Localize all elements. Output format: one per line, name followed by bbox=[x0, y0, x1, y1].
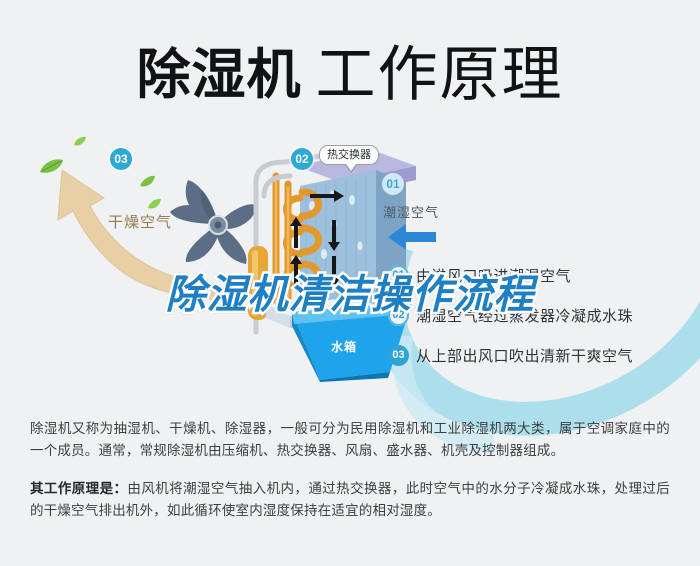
step-text-03: 从上部出风口吹出清新干爽空气 bbox=[416, 345, 633, 366]
dry-air-label: 干燥空气 bbox=[108, 211, 172, 232]
paragraph-1: 除湿机又称为抽湿机、干燥机、除湿器，一般可分为民用除湿机和工业除湿机两大类，属于… bbox=[30, 418, 670, 462]
humid-air-label: 潮湿空气 bbox=[383, 202, 439, 221]
diagram-badge-02: 02 bbox=[291, 148, 313, 170]
page-title-light: 工作原理 bbox=[316, 41, 564, 108]
list-item: 03 从上部出风口吹出清新干爽空气 bbox=[388, 344, 688, 366]
heat-exchanger-callout: 热交换器 bbox=[319, 145, 379, 165]
leaf-icon bbox=[38, 158, 64, 176]
infographic-page: 除湿机工作原理 bbox=[0, 0, 700, 566]
body-copy: 除湿机又称为抽湿机、干燥机、除湿器，一般可分为民用除湿机和工业除湿机两大类，属于… bbox=[30, 418, 670, 538]
dehumidifier-diagram: 03 02 01 热交换器 干燥空气 潮湿空气 水箱 01 由进风口吸进潮湿空气… bbox=[0, 118, 700, 390]
diagram-badge-01: 01 bbox=[382, 173, 404, 195]
water-tank-label: 水箱 bbox=[331, 338, 357, 355]
leaf-icon bbox=[73, 136, 87, 148]
step-badge-03: 03 bbox=[388, 345, 409, 366]
paragraph-2: 其工作原理是：由风机将潮湿空气抽入机内，通过热交换器，此时空气中的水分子冷凝成水… bbox=[30, 478, 670, 522]
leaf-icon bbox=[139, 175, 156, 189]
page-title-bold: 除湿机 bbox=[137, 45, 302, 105]
paragraph-2-lead: 其工作原理是： bbox=[30, 481, 127, 496]
overlay-headline: 除湿机清洁操作流程 bbox=[0, 262, 700, 320]
diagram-badge-03: 03 bbox=[110, 148, 132, 170]
